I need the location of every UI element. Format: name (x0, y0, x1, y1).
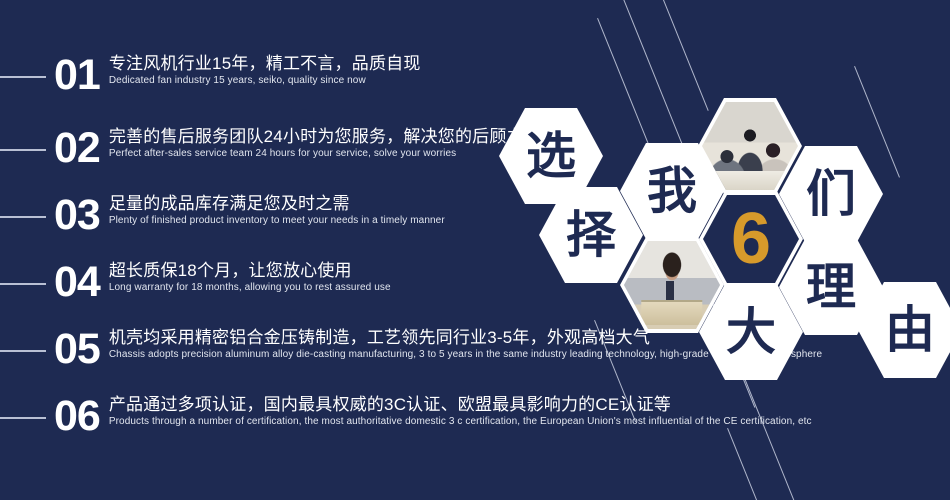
hex-char-men: 们 (806, 169, 856, 219)
hex-inner-six: 6 (703, 195, 799, 283)
promo-banner: 01 专注风机行业15年，精工不言，品质自现 Dedicated fan ind… (0, 0, 950, 500)
hex-char-ze: 择 (566, 210, 616, 260)
businessman-with-laptop-photo (624, 241, 720, 329)
laptop (641, 300, 702, 325)
photo-frame-meeting (702, 102, 798, 190)
hex-char-xuan: 选 (526, 131, 576, 181)
hexagon-cluster: 选 择 我 (0, 0, 950, 500)
photo-frame-man (624, 241, 720, 329)
hex-char-six: 6 (731, 203, 771, 275)
hex-char-li: 理 (806, 262, 856, 312)
hex-char-wo: 我 (647, 166, 697, 216)
business-team-meeting-photo (702, 102, 798, 190)
hex-char-da: 大 (726, 307, 776, 357)
hex-char-you: 由 (885, 305, 935, 355)
